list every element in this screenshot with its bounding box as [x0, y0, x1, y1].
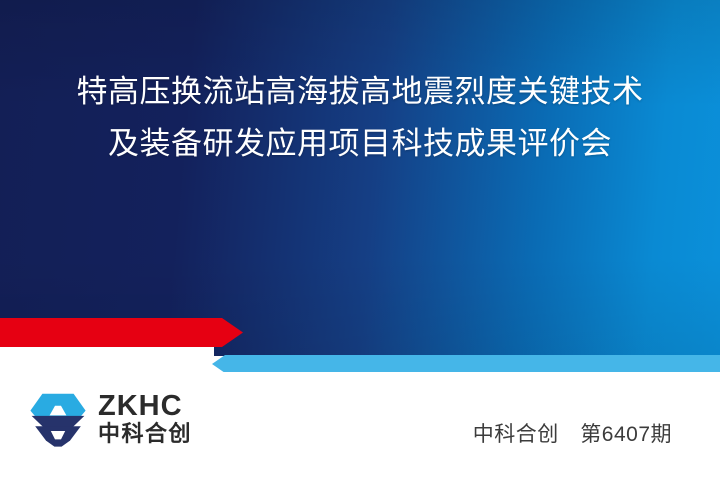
zkhc-wordmark-chinese: 中科合创 [98, 421, 192, 446]
title-line-1: 特高压换流站高海拔高地震烈度关键技术 [0, 66, 720, 118]
cyan-chevron-band [212, 355, 720, 373]
slide-title: 特高压换流站高海拔高地震烈度关键技术 及装备研发应用项目科技成果评价会 [0, 66, 720, 170]
presentation-slide: 特高压换流站高海拔高地震烈度关键技术 及装备研发应用项目科技成果评价会 ZKHC… [0, 0, 720, 492]
title-line-2: 及装备研发应用项目科技成果评价会 [0, 118, 720, 170]
white-separator-notch [0, 347, 214, 357]
footer-caption: 中科合创 第6407期 [473, 418, 672, 448]
red-chevron-band [0, 318, 243, 347]
zkhc-logo: ZKHC 中科合创 [28, 386, 258, 452]
zkhc-logo-mark-icon [28, 389, 88, 449]
background-gradient [0, 0, 720, 356]
zkhc-wordmark: ZKHC 中科合创 [98, 392, 192, 446]
zkhc-wordmark-latin: ZKHC [98, 392, 192, 420]
